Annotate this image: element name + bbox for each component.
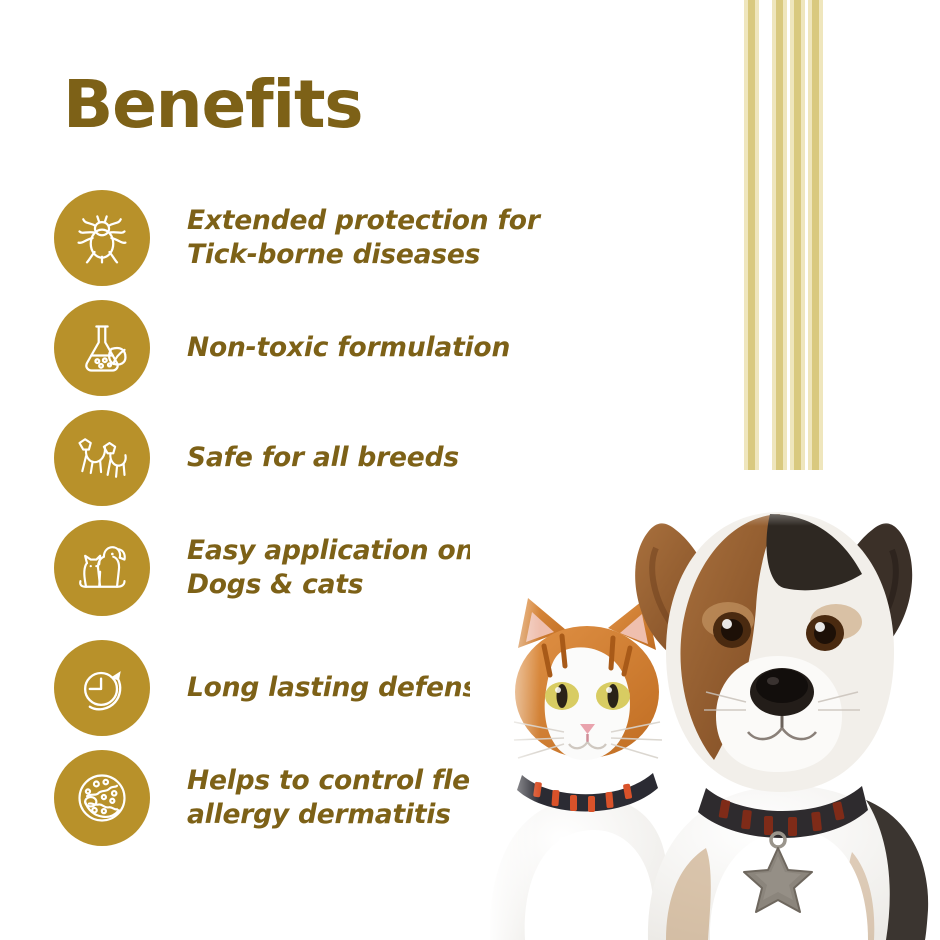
benefit-label: Easy application on Dogs & cats xyxy=(187,534,474,602)
benefit-label: Helps to control flea allergy dermatitis xyxy=(187,764,488,832)
flask-leaf-icon xyxy=(72,318,132,378)
benefit-label: Extended protection for Tick-borne disea… xyxy=(187,204,540,272)
stripe-5 xyxy=(783,0,787,510)
decorative-stripes xyxy=(736,0,831,510)
stripe-0 xyxy=(744,0,748,510)
pets-illustration xyxy=(470,470,940,940)
stripe-9 xyxy=(808,0,812,510)
benefit-label: Safe for all breeds xyxy=(187,441,459,475)
two-dogs-icon xyxy=(72,428,132,488)
stripe-6 xyxy=(790,0,794,510)
benefit-icon-badge xyxy=(54,520,150,616)
skin-rash-icon xyxy=(72,768,132,828)
benefit-icon-badge xyxy=(54,300,150,396)
benefit-label: Long lasting defense xyxy=(187,671,496,705)
stripe-2 xyxy=(755,0,759,510)
page-title: Benefits xyxy=(63,72,362,138)
benefit-icon-badge xyxy=(54,410,150,506)
stripe-7 xyxy=(794,0,801,510)
pets-photo xyxy=(470,470,940,940)
stripe-4 xyxy=(776,0,783,510)
stripe-3 xyxy=(772,0,776,510)
benefit-label: Non-toxic formulation xyxy=(187,331,510,365)
stripe-8 xyxy=(801,0,805,510)
benefit-icon-badge xyxy=(54,190,150,286)
dog-cat-icon xyxy=(72,538,132,598)
stripe-1 xyxy=(748,0,755,510)
stripe-10 xyxy=(812,0,819,510)
tick-icon xyxy=(72,208,132,268)
benefits-infographic: Benefits Extended protection for Tick-bo… xyxy=(0,0,940,940)
benefit-row: Non-toxic formulation xyxy=(54,300,574,396)
benefit-row: Extended protection for Tick-borne disea… xyxy=(54,190,574,286)
stripe-11 xyxy=(819,0,823,510)
benefit-icon-badge xyxy=(54,640,150,736)
benefit-icon-badge xyxy=(54,750,150,846)
clock-arrow-icon xyxy=(72,658,132,718)
